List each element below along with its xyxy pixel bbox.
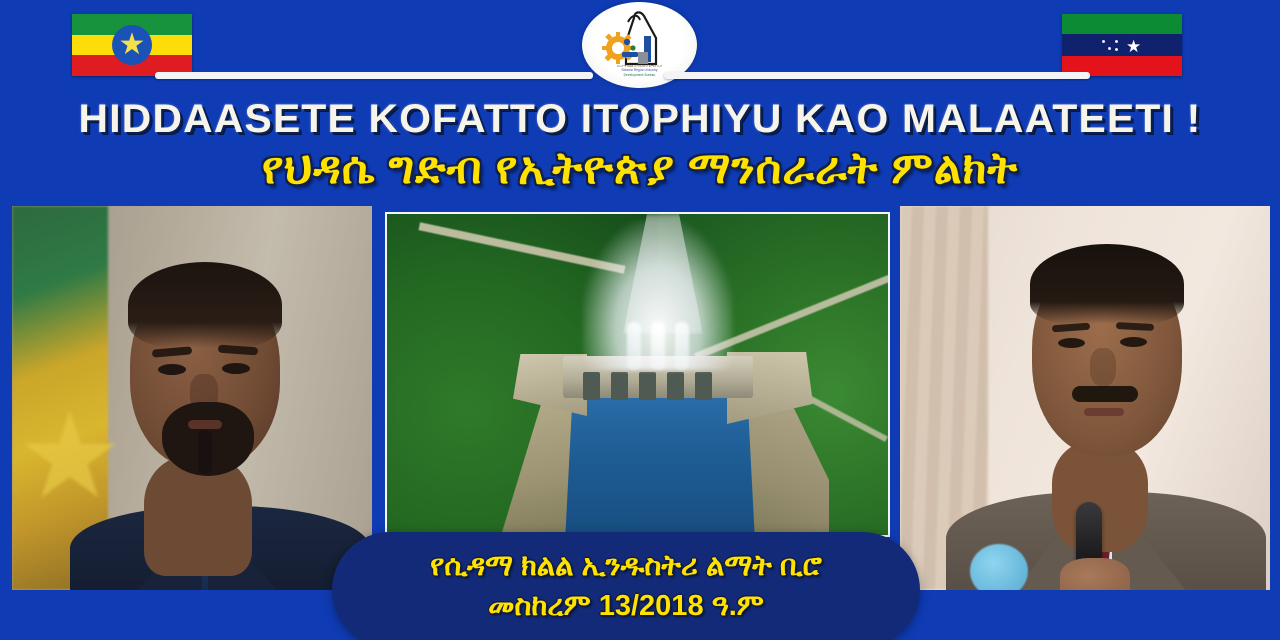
moustache-shape <box>1072 386 1138 402</box>
flag-dot-icon <box>1115 40 1118 43</box>
star-icon: ★ <box>119 30 146 60</box>
hair-shape <box>128 262 282 348</box>
photo-center-dam <box>385 212 890 537</box>
eye-left <box>1058 338 1085 348</box>
caption-line-2: መስከረም 13/2018 ዓ.ም <box>332 588 920 624</box>
flag-emblem-disc: ★ <box>112 25 152 65</box>
mouth-shape <box>188 420 222 429</box>
eye-right <box>1120 337 1147 347</box>
flag-dot-icon <box>1102 40 1105 43</box>
eye-left <box>158 364 186 375</box>
divider-right <box>664 72 1090 79</box>
hand-shape <box>1060 558 1130 590</box>
headline-latin: HIDDAASETE KOFATTO ITOPHIYU KAO MALAATEE… <box>0 96 1280 142</box>
flag-dot-icon <box>1115 48 1118 51</box>
sidama-band-green <box>1062 14 1182 34</box>
banner-canvas: ★ <box>0 0 1280 640</box>
dam-gate <box>611 372 628 400</box>
hair-shape <box>1030 244 1184 324</box>
flag-dot-icon <box>1108 47 1111 50</box>
sidama-band-blue <box>1062 34 1182 56</box>
photo-right-portrait <box>900 206 1270 590</box>
ethiopia-flag-icon: ★ <box>72 14 192 76</box>
dam-gate <box>695 372 712 400</box>
mouth-shape <box>1084 408 1124 416</box>
nose-shape <box>1090 348 1116 386</box>
dam-gate <box>639 372 656 400</box>
chin-beard-shape <box>198 430 212 474</box>
dam-gate <box>667 372 684 400</box>
header-bar: ★ <box>0 0 1280 95</box>
portrait-backdrop: ★ <box>12 206 372 590</box>
headline-amharic: የህዳሴ ግድብ የኢትዮጵያ ማንሰራራት ምልክት <box>0 143 1280 195</box>
eye-right <box>222 363 250 374</box>
reservoir-water <box>565 394 755 537</box>
divider-left <box>155 72 593 79</box>
star-icon: ★ <box>16 396 108 536</box>
sidama-flag-icon: ★ <box>1062 14 1182 76</box>
portrait-backdrop <box>900 206 1270 590</box>
dam-scene <box>387 214 888 535</box>
caption-line-1: የሲዳማ ክልል ኢንዱስትሪ ልማት ቢሮ <box>332 548 920 584</box>
photo-left-portrait: ★ <box>12 206 372 590</box>
star-icon: ★ <box>1126 38 1141 55</box>
water-spray-plume <box>583 220 733 370</box>
blue-object <box>970 544 1028 590</box>
caption-banner: የሲዳማ ክልል ኢንዱስትሪ ልማት ቢሮ መስከረም 13/2018 ዓ.ም <box>332 532 920 640</box>
dam-gate <box>583 372 600 400</box>
